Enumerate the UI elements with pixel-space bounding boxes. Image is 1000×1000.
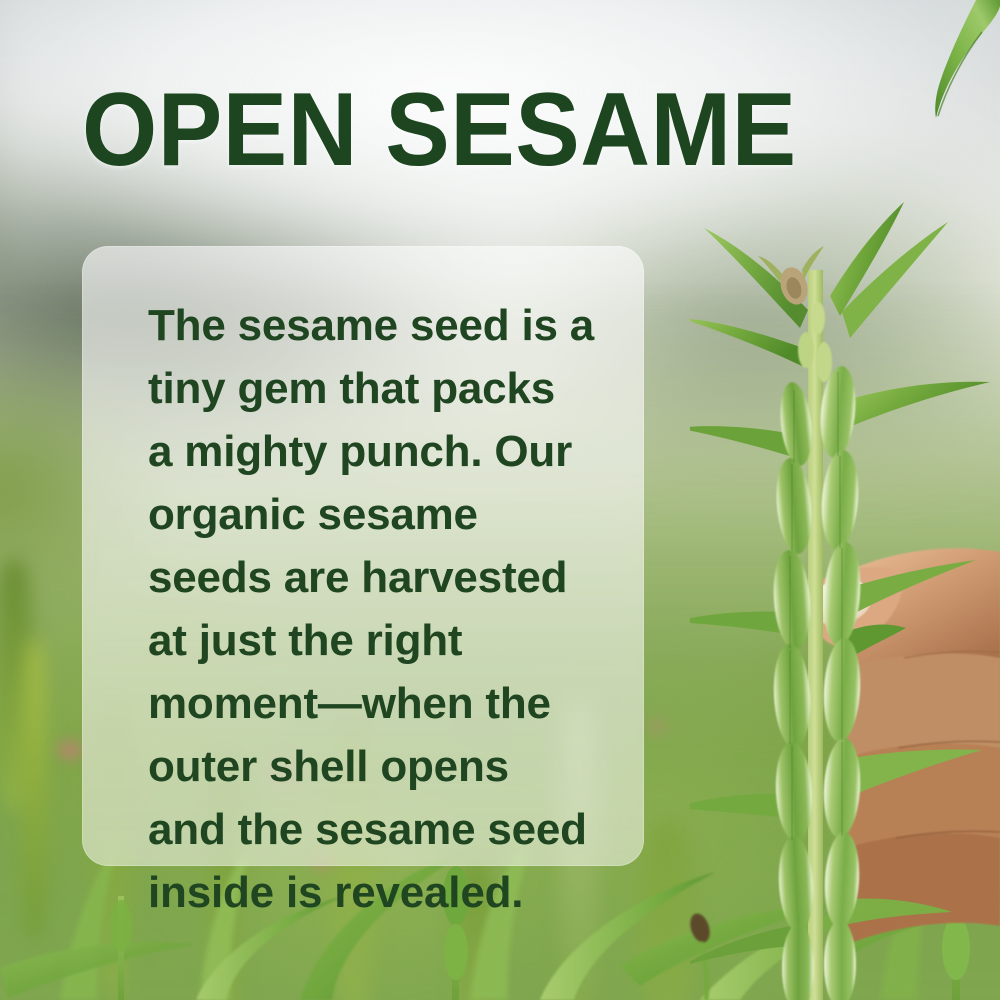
description-line: and the sesame seed	[148, 798, 618, 861]
sesame-stalk-and-hand	[690, 200, 1000, 1000]
poster-canvas: OPEN SESAME The sesame seed is a tiny ge…	[0, 0, 1000, 1000]
description-line: The sesame seed is a	[148, 294, 618, 357]
description-line: organic sesame	[148, 483, 618, 546]
description-line: outer shell opens	[148, 735, 618, 798]
description-line: moment—when the	[148, 672, 618, 735]
description-text: The sesame seed is a tiny gem that packs…	[148, 294, 618, 924]
description-line: a mighty punch. Our	[148, 420, 618, 483]
leaf-top-right-corner	[880, 0, 1000, 130]
page-title: OPEN SESAME	[82, 78, 797, 182]
description-line: seeds are harvested	[148, 546, 618, 609]
description-line: at just the right	[148, 609, 618, 672]
description-line: inside is revealed.	[148, 861, 618, 924]
description-card: The sesame seed is a tiny gem that packs…	[82, 246, 644, 866]
description-line: tiny gem that packs	[148, 357, 618, 420]
